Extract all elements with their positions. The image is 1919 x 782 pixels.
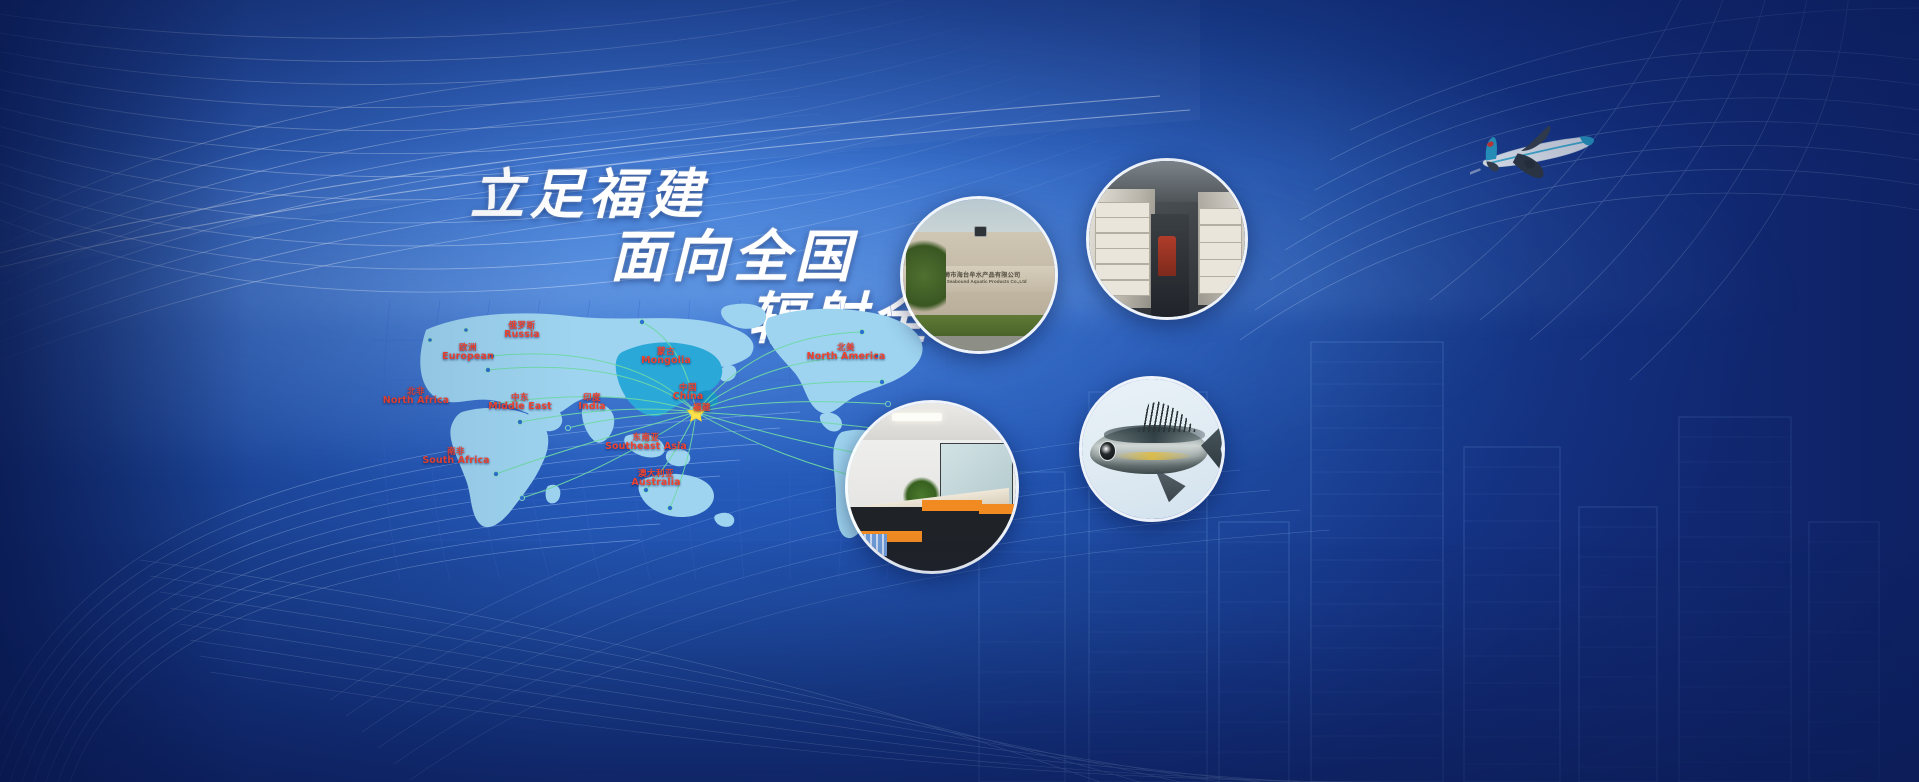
background-shadow-bottom: [0, 579, 1919, 782]
photo-tuna-fish: [1079, 376, 1225, 522]
signboard-english-text: Shishi Seabound Aquatic Products Co.,Ltd: [931, 280, 1026, 285]
photo-factory-gate: 石狮市海台牟水产品有限公司 Shishi Seabound Aquatic Pr…: [900, 196, 1058, 354]
map-label-mongolia: 蒙古Mongolia: [641, 348, 691, 365]
map-label-north-america: 北美North America: [807, 344, 886, 361]
map-label-middle-east: 中东Middle East: [488, 394, 551, 411]
map-label-origin-fujian: 福建: [693, 404, 711, 413]
file-binders: [860, 534, 887, 556]
map-label-north-africa: 北非North Africa: [383, 388, 449, 405]
map-label-china: 中国China: [673, 384, 704, 401]
fish-eye: [1099, 441, 1116, 461]
map-label-european: 欧洲European: [442, 344, 494, 361]
map-label-australia: 澳大利亚Australia: [631, 470, 680, 487]
map-label-southeast-asia: 东南亚Southeast Asia: [605, 434, 687, 451]
map-label-india: 印度India: [578, 394, 605, 411]
map-label-south-africa: 南非South Africa: [422, 448, 489, 465]
ceiling-light-icon: [892, 413, 942, 421]
global-reach-banner: 立足福建 面向全国 辐射全球: [0, 0, 1919, 782]
wall-lamp-icon: [974, 226, 987, 237]
worker-figure: [1158, 236, 1177, 277]
map-label-russia: 俄罗斯Russia: [504, 322, 540, 339]
photo-office-interior: [845, 400, 1019, 574]
photo-cold-storage: [1086, 158, 1248, 320]
airplane-icon: [1470, 120, 1610, 190]
